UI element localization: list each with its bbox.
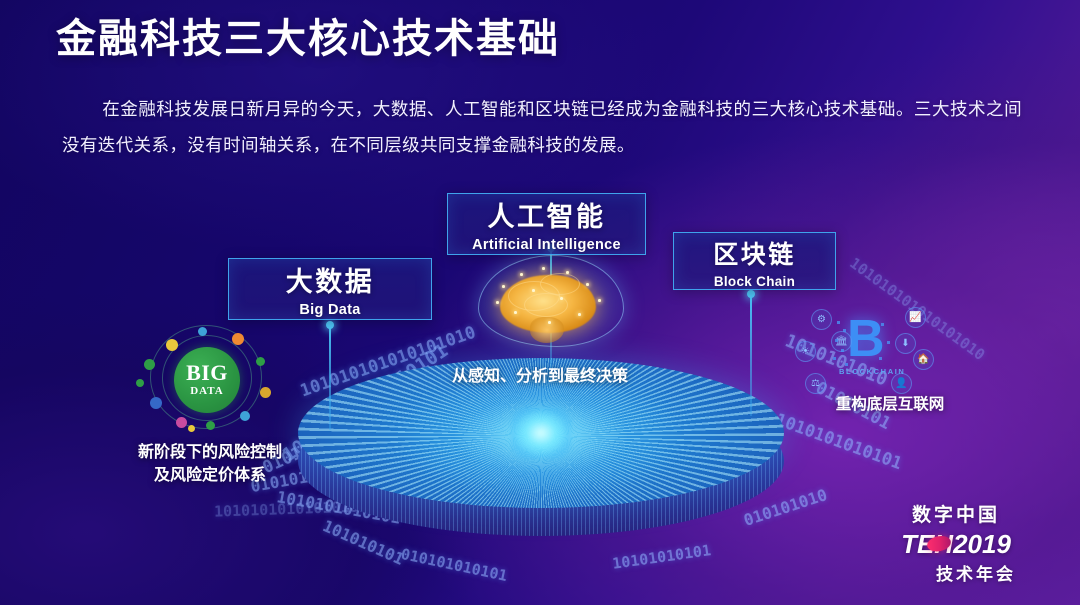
card-big-data[interactable]: 大数据 Big Data: [228, 258, 432, 320]
network-node: [198, 327, 207, 336]
brain-node: [586, 283, 589, 286]
connector-dot-blockchain: [747, 290, 755, 298]
brain-node: [502, 285, 505, 288]
blockchain-node-icon: ☀: [795, 341, 816, 362]
caption-line-1: 新阶段下的风险控制: [95, 442, 325, 465]
card-title-en: Artificial Intelligence: [448, 237, 645, 253]
card-title-cn: 区块链: [674, 241, 835, 271]
binary-stream: 010101010101: [399, 545, 509, 585]
network-node: [144, 359, 155, 370]
network-node: [136, 379, 144, 387]
connector-dot-bigdata: [326, 321, 334, 329]
network-node: [150, 397, 162, 409]
blockchain-pixel: [845, 363, 848, 366]
caption-line-2: 及风险定价体系: [95, 465, 325, 488]
glowing-brain-icon: [478, 255, 624, 347]
brain-node: [598, 299, 601, 302]
card-block-chain[interactable]: 区块链 Block Chain: [673, 232, 836, 290]
brain-node: [566, 271, 569, 274]
network-node: [256, 357, 265, 366]
binary-stream: 1010101010101: [773, 410, 905, 474]
caption-artificial-intelligence: 从感知、分析到最终决策: [425, 366, 655, 389]
brain-node: [496, 301, 499, 304]
card-title-en: Big Data: [229, 302, 431, 318]
connector-line-bigdata: [329, 325, 331, 430]
card-title-cn: 人工智能: [448, 202, 645, 234]
brain-node: [578, 313, 581, 316]
brain-fold: [540, 273, 580, 295]
brain-node: [514, 311, 517, 314]
big-data-network-icon: BIG DATA: [136, 325, 276, 435]
blockchain-node-icon: ⚙: [811, 309, 832, 330]
big-data-badge: BIG DATA: [174, 347, 240, 413]
binary-stream: 10101010101: [611, 541, 712, 573]
disc-core-light: [511, 407, 571, 459]
blockchain-pixel: [879, 357, 882, 360]
network-node: [188, 425, 195, 432]
slide-canvas: 金融科技三大核心技术基础 在金融科技发展日新月异的今天，大数据、人工智能和区块链…: [0, 0, 1080, 605]
card-artificial-intelligence[interactable]: 人工智能 Artificial Intelligence: [447, 193, 646, 255]
blockchain-node-icon: 📈: [905, 307, 926, 328]
brain-node: [520, 273, 523, 276]
network-node: [240, 411, 250, 421]
network-node: [166, 339, 178, 351]
logo-tech-wordmark: TEH2019: [866, 529, 1046, 559]
network-node: [260, 387, 271, 398]
logo-line-3: 技术年会: [866, 560, 1046, 585]
brain-node: [548, 321, 551, 324]
blockchain-b-icon: B BLOCKCHAIN ⚙ ☀ ⚖ 🏛 📈 ⬇ 🏠 👤: [795, 305, 943, 401]
big-data-title: BIG: [186, 363, 228, 384]
caption-line-1: 从感知、分析到最终决策: [425, 366, 655, 389]
blockchain-node-icon: ⬇: [895, 333, 916, 354]
caption-block-chain: 重构底层互联网: [795, 394, 985, 416]
card-title-cn: 大数据: [229, 267, 431, 299]
brain-node: [560, 297, 563, 300]
blockchain-pixel: [837, 321, 840, 324]
network-node: [176, 417, 187, 428]
network-node: [232, 333, 244, 345]
brain-node: [542, 267, 545, 270]
caption-line-1: 重构底层互联网: [795, 394, 985, 416]
connector-line-blockchain: [750, 294, 752, 416]
caption-big-data: 新阶段下的风险控制 及风险定价体系: [95, 442, 325, 487]
body-paragraph: 在金融科技发展日新月异的今天，大数据、人工智能和区块链已经成为金融科技的三大核心…: [62, 92, 1022, 164]
blockchain-node-icon: ⚖: [805, 373, 826, 394]
blockchain-pixel: [835, 339, 838, 342]
big-data-subtitle: DATA: [190, 385, 224, 397]
network-node: [206, 421, 215, 430]
blockchain-pixel: [887, 341, 890, 344]
blockchain-pixel: [841, 349, 844, 352]
blockchain-pixel: [881, 323, 884, 326]
event-logo: 数字中国 TEH2019 技术年会: [866, 500, 1046, 585]
page-title: 金融科技三大核心技术基础: [56, 16, 560, 63]
blockchain-pixel: [843, 329, 846, 332]
brain-node: [532, 289, 535, 292]
logo-line-1: 数字中国: [866, 500, 1046, 527]
blockchain-node-icon: 🏠: [913, 349, 934, 370]
blockchain-pixel: [833, 357, 836, 360]
card-title-en: Block Chain: [674, 274, 835, 289]
blockchain-node-icon: 👤: [891, 373, 912, 394]
